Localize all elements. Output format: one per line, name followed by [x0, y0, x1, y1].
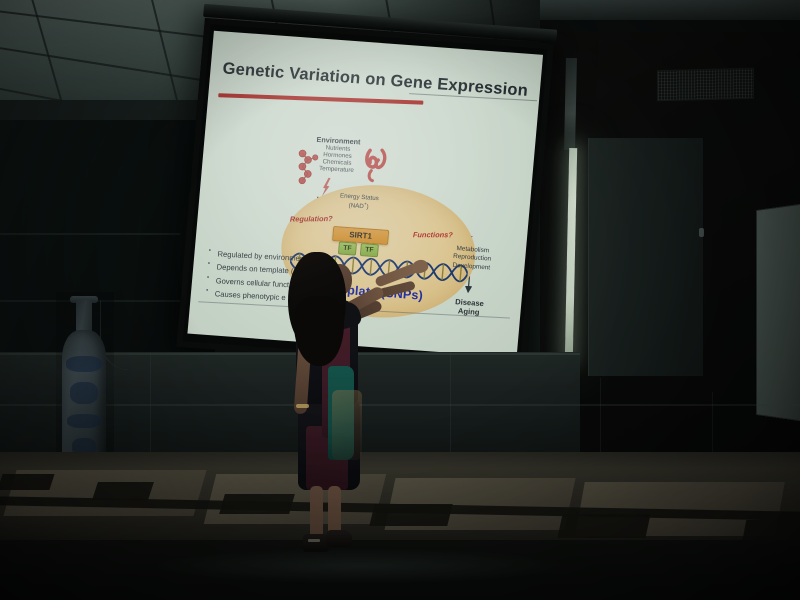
- energy-status-label: Energy Status (NAD+): [339, 192, 379, 212]
- shoe-buckle: [308, 539, 320, 542]
- nad-text: (NAD: [348, 203, 364, 211]
- environment-label-group: Environment Nutrients Hormones Chemicals…: [314, 135, 360, 175]
- bracelet: [296, 404, 309, 408]
- wall-seam: [0, 233, 180, 235]
- ceiling-beam-shadow: [540, 20, 800, 32]
- presenter: [270, 248, 410, 560]
- protein-icon: [361, 146, 392, 188]
- presenter-right-shoe: [326, 530, 352, 547]
- speaker-grille-icon: [657, 68, 754, 102]
- panel-seam: [450, 353, 451, 453]
- presenter-left-leg: [310, 486, 323, 538]
- outcomes-list: Metabolism Reproduction Development: [452, 245, 492, 273]
- regulation-label: Regulation?: [290, 214, 333, 224]
- whiteboard: [756, 202, 800, 424]
- lecture-hall-photo: Genetic Variation on Gene Expression: [0, 0, 800, 600]
- panel-seam: [600, 378, 601, 458]
- nad-close-paren: ): [366, 204, 369, 211]
- door-panel[interactable]: [588, 138, 703, 376]
- light-housing: [564, 58, 577, 150]
- presenter-dress-pattern: [332, 390, 362, 460]
- door-knob[interactable]: [699, 228, 704, 237]
- functions-label: Functions?: [413, 230, 453, 239]
- panel-seam: [150, 353, 151, 453]
- ceiling-beam: [540, 0, 800, 22]
